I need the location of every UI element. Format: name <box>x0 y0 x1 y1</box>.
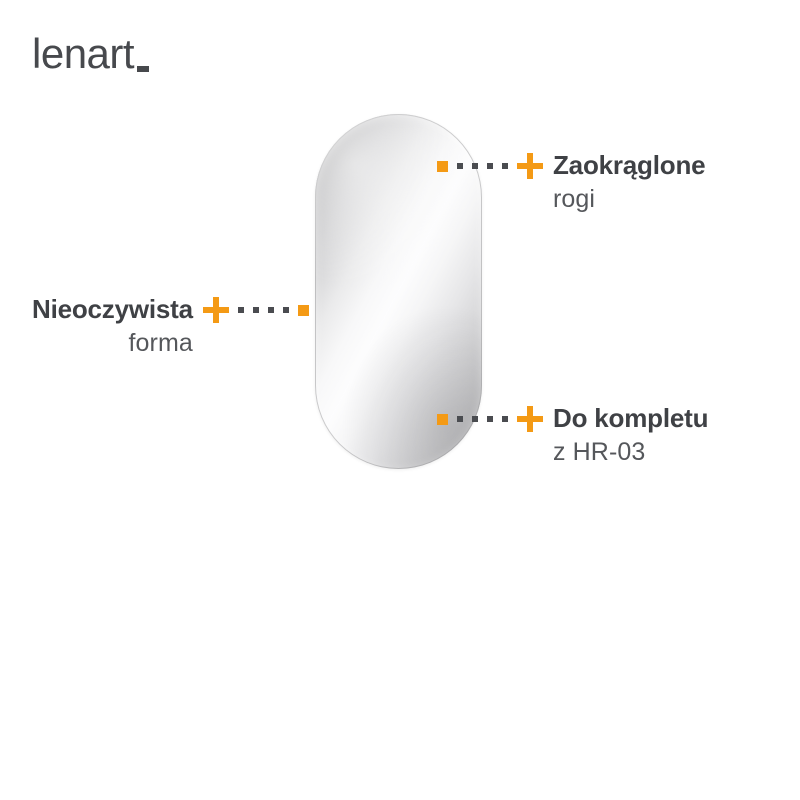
leader-dot-icon <box>502 416 508 422</box>
dotted-leader-icon <box>238 307 289 313</box>
leader-line-unusual-form <box>203 295 309 325</box>
dotted-leader-icon <box>457 163 508 169</box>
callout-subtitle: forma <box>128 327 192 360</box>
callout-title: Do kompletu <box>553 404 708 434</box>
product-infographic-page: lenart Zaokrąglone rogi Nieoczywista for… <box>0 0 800 800</box>
leader-dot-icon <box>283 307 289 313</box>
leader-dot-icon <box>457 416 463 422</box>
brand-logo: lenart <box>32 33 149 75</box>
callout-label-unusual-form: Nieoczywista forma <box>32 295 193 359</box>
callout-rounded-corners: Zaokrąglone rogi <box>437 151 705 215</box>
orange-square-marker-icon <box>298 305 309 316</box>
leader-line-set-match <box>437 404 543 434</box>
leader-dot-icon <box>238 307 244 313</box>
brand-logo-dot-icon <box>137 66 149 72</box>
leader-dot-icon <box>472 416 478 422</box>
leader-dot-icon <box>268 307 274 313</box>
callout-title: Nieoczywista <box>32 295 193 325</box>
plus-icon <box>203 297 229 323</box>
leader-line-rounded-corners <box>437 151 543 181</box>
brand-logo-text: lenart <box>32 33 134 75</box>
plus-icon <box>517 406 543 432</box>
callout-title: Zaokrąglone <box>553 151 705 181</box>
leader-dot-icon <box>457 163 463 169</box>
leader-dot-icon <box>502 163 508 169</box>
callout-subtitle: rogi <box>553 183 595 216</box>
callout-unusual-form: Nieoczywista forma <box>32 295 309 359</box>
callout-set-match: Do kompletu z HR-03 <box>437 404 708 468</box>
plus-icon <box>517 153 543 179</box>
leader-dot-icon <box>487 163 493 169</box>
leader-dot-icon <box>487 416 493 422</box>
callout-subtitle: z HR-03 <box>553 436 645 469</box>
leader-dot-icon <box>253 307 259 313</box>
orange-square-marker-icon <box>437 414 448 425</box>
dotted-leader-icon <box>457 416 508 422</box>
callout-label-rounded-corners: Zaokrąglone rogi <box>553 151 705 215</box>
callout-label-set-match: Do kompletu z HR-03 <box>553 404 708 468</box>
leader-dot-icon <box>472 163 478 169</box>
orange-square-marker-icon <box>437 161 448 172</box>
